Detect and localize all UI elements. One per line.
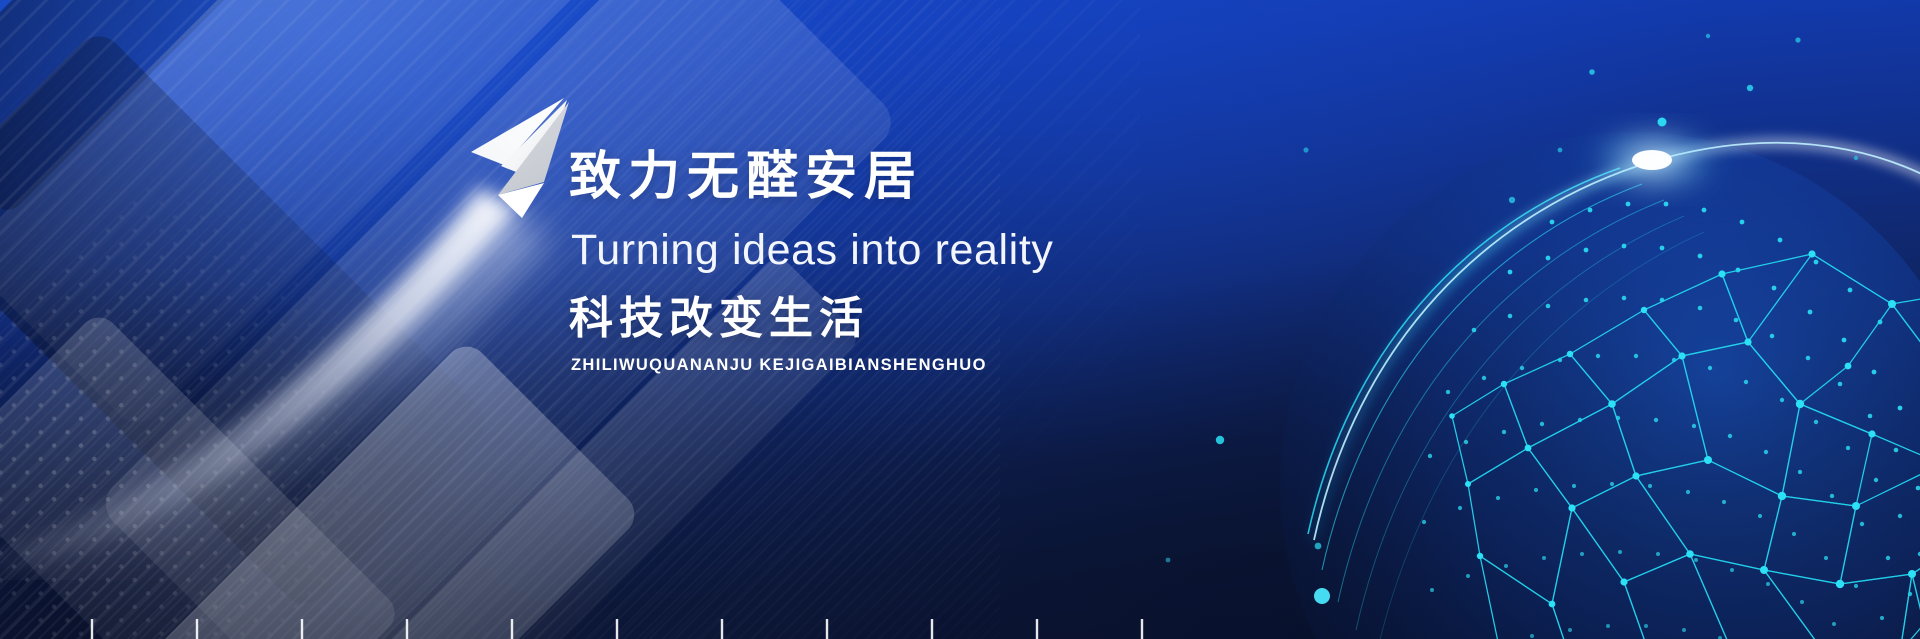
wireframe-globe-icon	[1252, 104, 1920, 639]
headline-chinese: 致力无醛安居	[569, 150, 1329, 205]
hero-banner: 致力无醛安居 Turning ideas into reality 科技改变生活…	[0, 0, 1920, 639]
banner-copy: 致力无醛安居 Turning ideas into reality 科技改变生活…	[569, 150, 1329, 376]
subheadline-chinese: 科技改变生活	[569, 295, 1329, 343]
paper-plane-icon	[449, 96, 584, 221]
tagline-english: Turning ideas into reality	[571, 225, 1329, 277]
pinyin-caption: ZHILIWUQUANANJU KEJIGAIBIANSHENGHUO	[571, 356, 1329, 376]
bottom-tick-ruler	[0, 613, 1150, 639]
